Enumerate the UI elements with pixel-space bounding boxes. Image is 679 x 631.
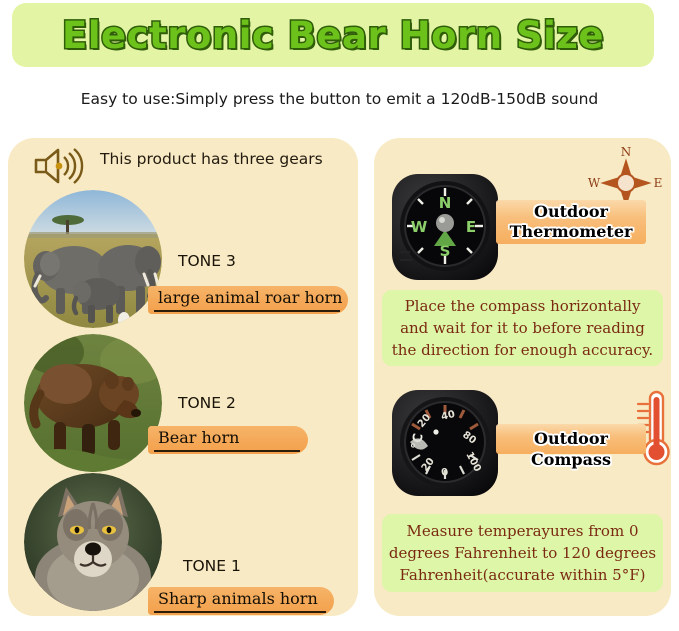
wolf-photo [24, 473, 162, 611]
svg-text:E: E [654, 176, 663, 190]
tone-pill-label: Bear horn [158, 428, 239, 447]
svg-text:N: N [621, 145, 632, 159]
thermometer-device-photo: 20 40 80 100 20 0 °C [386, 384, 506, 509]
tone-row: TONE 1 Sharp animals horn [8, 473, 358, 613]
subtitle: Easy to use:Simply press the button to e… [0, 90, 679, 108]
speaker-icon [32, 146, 88, 186]
title-banner: Electronic Bear Horn Size [12, 3, 654, 67]
tone-row: TONE 2 Bear horn [8, 334, 358, 474]
outdoor-compass-label-bar: Outdoor Compass [496, 424, 646, 454]
outdoor-thermometer-label-line2: Thermometer [496, 221, 646, 242]
elephant-photo [24, 190, 162, 328]
tone-pill-label: Sharp animals horn [158, 589, 318, 608]
tones-panel: This product has three gears [8, 138, 358, 616]
tone-name: TONE 2 [178, 394, 236, 412]
bear-photo [24, 334, 162, 472]
tone-name: TONE 3 [178, 252, 236, 270]
svg-text:E: E [466, 218, 476, 236]
compass-instruction-text: Place the compass horizontally and wait … [382, 295, 663, 361]
tone-pill: Sharp animals horn [148, 587, 334, 615]
tone-pill: Bear horn [148, 426, 308, 454]
svg-text:W: W [588, 176, 601, 190]
thermometer-instruction-text: Measure temperayures from 0 degrees Fahr… [382, 520, 663, 586]
infographic-root: Electronic Bear Horn Size Easy to use:Si… [0, 0, 679, 631]
page-title: Electronic Bear Horn Size [12, 3, 654, 67]
outdoor-compass-label: Outdoor Compass [496, 428, 646, 470]
tone-row: TONE 3 large animal roar horn [8, 190, 358, 330]
pill-underline [154, 611, 326, 613]
features-panel: N S W E [374, 138, 671, 616]
compass-device-photo: N W E S [386, 168, 506, 293]
pill-underline [154, 450, 300, 452]
compass-instruction-note: Place the compass horizontally and wait … [382, 290, 663, 366]
thermometer-instruction-note: Measure temperayures from 0 degrees Fahr… [382, 514, 663, 592]
outdoor-thermometer-label-bar: Outdoor Thermometer [496, 200, 646, 244]
outdoor-thermometer-label-line1: Outdoor [496, 201, 646, 222]
svg-text:W: W [411, 218, 428, 236]
tone-pill-label: large animal roar horn [158, 288, 342, 307]
tone-name: TONE 1 [183, 557, 241, 575]
three-gears-heading: This product has three gears [100, 150, 340, 168]
pill-underline [154, 310, 340, 312]
tone-pill: large animal roar horn [148, 286, 348, 314]
svg-text:N: N [439, 194, 452, 212]
